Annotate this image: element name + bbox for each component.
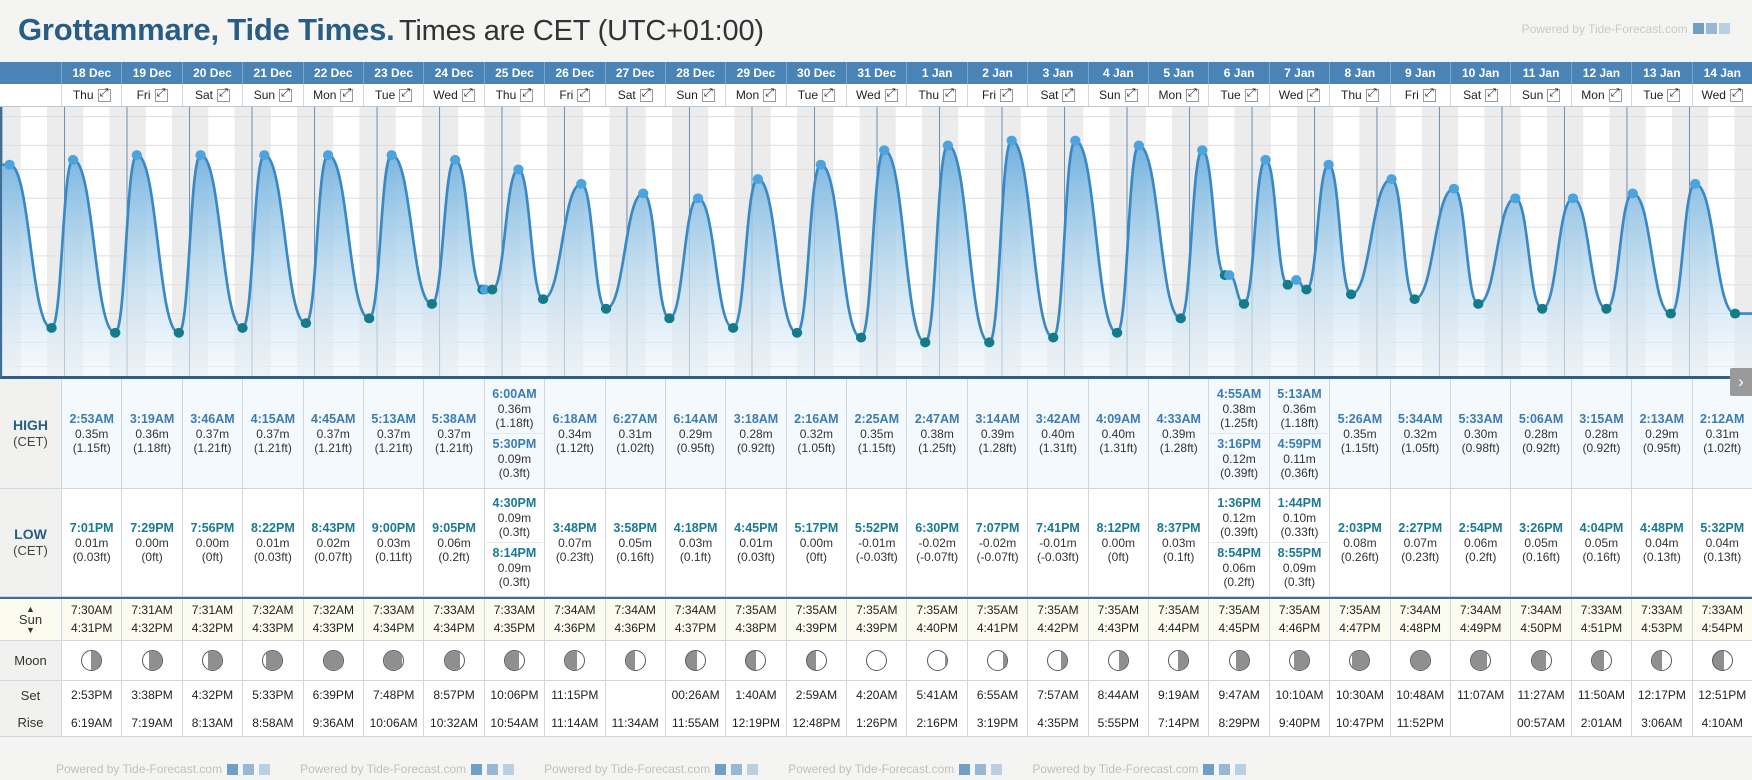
footer-powered-by-text: Powered by Tide-Forecast.com	[300, 762, 466, 776]
low-tide-height-m: 0.08m	[1331, 536, 1388, 550]
moon-rise-time: 10:54AM	[484, 709, 544, 736]
moon-phase-icon	[1591, 650, 1612, 671]
moon-shadow	[1003, 651, 1007, 670]
high-tide-height-ft: (1.18ft)	[1271, 416, 1328, 430]
sun-cell: 7:33AM4:53PM	[1631, 599, 1691, 640]
moon-phase-cell	[906, 641, 966, 680]
moon-rise-time: 1:26PM	[846, 709, 906, 736]
sunset-time: 4:37PM	[675, 620, 716, 637]
high-tide-time: 2:12AM	[1694, 412, 1751, 427]
date-header-cell: 21 Dec	[242, 62, 302, 84]
high-tide-event: 3:14AM0.39m(1.28ft)	[969, 411, 1026, 456]
low-tide-time: 8:43PM	[305, 521, 362, 536]
weekday-header-cell: Fri	[1390, 84, 1450, 106]
moon-rise-time: 4:35PM	[1027, 709, 1087, 736]
high-tide-marker	[1291, 275, 1301, 285]
expand-icon[interactable]	[1245, 89, 1258, 102]
weekday-label: Wed	[1279, 88, 1303, 102]
high-tide-height-ft: (1.31ft)	[1090, 441, 1147, 455]
expand-icon[interactable]	[1485, 89, 1498, 102]
high-tide-time: 5:06AM	[1512, 412, 1569, 427]
high-tide-cell: 6:14AM0.29m(0.95ft)	[665, 379, 725, 488]
weekday-header-cell: Mon	[725, 84, 785, 106]
date-header-cell: 6 Jan	[1208, 62, 1268, 84]
high-tide-marker	[943, 141, 953, 151]
sunset-time: 4:34PM	[373, 620, 414, 637]
weekday-label: Tue	[375, 88, 395, 102]
expand-icon[interactable]	[217, 89, 230, 102]
low-tide-marker	[728, 323, 738, 333]
high-tide-height-ft: (1.21ft)	[425, 441, 482, 455]
date-header-corner	[0, 62, 61, 84]
high-tide-height-ft: (1.21ft)	[365, 441, 422, 455]
high-tide-height-ft: (0.92ft)	[1573, 441, 1630, 455]
moon-rise-time: 7:19AM	[121, 709, 181, 736]
sun-cell: 7:33AM4:34PM	[423, 599, 483, 640]
low-tide-time: 7:56PM	[184, 521, 241, 536]
low-tide-event: 8:54PM0.06m(0.2ft)	[1210, 542, 1267, 590]
high-tide-marker	[68, 155, 78, 165]
low-tide-event: 5:17PM0.00m(0ft)	[788, 520, 845, 565]
moon-phase-cell	[1027, 641, 1087, 680]
sun-cell: 7:35AM4:47PM	[1329, 599, 1389, 640]
low-tide-cell: 7:01PM0.01m(0.03ft)	[61, 489, 121, 596]
low-tide-marker	[1239, 299, 1249, 309]
weekday-header-cell: Sat	[182, 84, 242, 106]
weekday-label: Thu	[496, 88, 517, 102]
expand-icon[interactable]	[822, 89, 835, 102]
high-tide-event: 6:14AM0.29m(0.95ft)	[667, 411, 724, 456]
high-tide-height-ft: (1.02ft)	[1694, 441, 1751, 455]
moon-shadow	[1592, 651, 1604, 670]
low-tide-height-m: 0.00m	[788, 536, 845, 550]
moon-phase-cell	[1269, 641, 1329, 680]
expand-icon[interactable]	[1366, 89, 1379, 102]
low-tide-time: 2:54PM	[1452, 521, 1509, 536]
low-tide-height-ft: (0ft)	[788, 550, 845, 564]
moon-shadow	[384, 651, 401, 670]
high-tide-time: 5:34AM	[1392, 412, 1449, 427]
date-header-cell: 8 Jan	[1329, 62, 1389, 84]
low-tide-height-m: 0.01m	[727, 536, 784, 550]
high-tide-marker	[450, 155, 460, 165]
sun-cell: 7:34AM4:50PM	[1510, 599, 1570, 640]
low-tide-time: 8:37PM	[1150, 521, 1207, 536]
high-tide-time: 4:33AM	[1150, 412, 1207, 427]
low-tide-height-m: 0.01m	[63, 536, 120, 550]
low-tide-height-m: 0.04m	[1694, 536, 1751, 550]
high-tide-event: 3:15AM0.28m(0.92ft)	[1573, 411, 1630, 456]
low-tide-event: 7:01PM0.01m(0.03ft)	[63, 520, 120, 565]
sun-cell: 7:31AM4:32PM	[121, 599, 181, 640]
weekday-header-cell: Sun	[1510, 84, 1570, 106]
expand-icon[interactable]	[763, 89, 776, 102]
high-tide-height-ft: (1.25ft)	[1210, 416, 1267, 430]
high-tide-event: 5:33AM0.30m(0.98ft)	[1452, 411, 1509, 456]
footer-powered-by-group: Powered by Tide-Forecast.com	[270, 762, 514, 776]
moon-shadow	[208, 651, 222, 670]
moon-phase-columns	[61, 641, 1752, 680]
low-tide-time: 9:05PM	[425, 521, 482, 536]
moon-rise-time: 3:19PM	[967, 709, 1027, 736]
weekday-header-cell: Tue	[1208, 84, 1268, 106]
sunrise-time: 7:33AM	[373, 602, 414, 619]
moon-rise-time: 6:19AM	[61, 709, 121, 736]
moon-set-columns: 2:53PM3:38PM4:32PM5:33PM6:39PM7:48PM8:57…	[61, 681, 1752, 709]
sunset-time: 4:47PM	[1339, 620, 1380, 637]
weekday-header-cell: Sat	[1450, 84, 1510, 106]
expand-icon[interactable]	[943, 89, 956, 102]
moon-shadow	[945, 651, 947, 670]
weekday-label: Sun	[1522, 88, 1543, 102]
moon-phase-icon	[625, 650, 646, 671]
expand-icon[interactable]	[1609, 89, 1622, 102]
low-tide-height-m: 0.07m	[1392, 536, 1449, 550]
sunset-time: 4:33PM	[252, 620, 293, 637]
sunset-time: 4:32PM	[192, 620, 233, 637]
high-tide-marker	[1386, 174, 1396, 184]
expand-icon[interactable]	[462, 89, 475, 102]
high-tide-height-m: 0.40m	[1029, 427, 1086, 441]
sunrise-time: 7:31AM	[192, 602, 233, 619]
high-tide-height-ft: (1.05ft)	[788, 441, 845, 455]
low-tide-event: 9:00PM0.03m(0.11ft)	[365, 520, 422, 565]
weekday-header-cell: Sun	[1088, 84, 1148, 106]
high-tide-cell: 4:45AM0.37m(1.21ft)	[303, 379, 363, 488]
high-tide-event: 2:12AM0.31m(1.02ft)	[1694, 411, 1751, 456]
expand-icon[interactable]	[155, 89, 168, 102]
expand-icon[interactable]	[640, 89, 653, 102]
low-tide-height-m: 0.07m	[546, 536, 603, 550]
moon-rise-time: 2:16PM	[906, 709, 966, 736]
weekday-label: Mon	[1159, 88, 1182, 102]
moon-set-time: 10:48AM	[1390, 681, 1450, 709]
expand-icon[interactable]	[399, 89, 412, 102]
sunrise-time: 7:35AM	[735, 602, 776, 619]
high-tide-height-m: 0.35m	[848, 427, 905, 441]
date-header-cell: 9 Jan	[1390, 62, 1450, 84]
weekday-label: Wed	[1702, 88, 1726, 102]
low-tide-event: 6:30PM-0.02m(-0.07ft)	[908, 520, 965, 565]
high-tide-time: 6:00AM	[486, 387, 543, 402]
high-tide-height-m: 0.11m	[1271, 452, 1328, 466]
low-tide-event: 4:30PM0.09m(0.3ft)	[486, 495, 543, 540]
high-tide-height-m: 0.37m	[244, 427, 301, 441]
low-tide-marker	[1048, 333, 1058, 343]
low-tide-label-text: LOW	[14, 526, 47, 544]
high-tide-event: 5:30PM0.09m(0.3ft)	[486, 433, 543, 481]
sunrise-time: 7:35AM	[856, 602, 897, 619]
moon-phase-icon	[806, 650, 827, 671]
high-tide-label: HIGH (CET)	[0, 379, 61, 488]
low-tide-height-m: 0.05m	[607, 536, 664, 550]
moon-phase-icon	[202, 650, 223, 671]
moon-shadow	[324, 651, 343, 670]
date-header-cell: 26 Dec	[544, 62, 604, 84]
date-header-cell: 18 Dec	[61, 62, 121, 84]
footer-powered-by-group: Powered by Tide-Forecast.com	[514, 762, 758, 776]
date-header-cell: 28 Dec	[665, 62, 725, 84]
expand-icon[interactable]	[885, 89, 898, 102]
weekday-header-cell: Wed	[846, 84, 906, 106]
sunrise-time: 7:34AM	[675, 602, 716, 619]
low-tide-height-m: 0.02m	[305, 536, 362, 550]
high-tide-height-m: 0.31m	[1694, 427, 1751, 441]
high-tide-height-m: 0.30m	[1452, 427, 1509, 441]
low-tide-height-ft: (0.16ft)	[1512, 550, 1569, 564]
expand-icon[interactable]	[577, 89, 590, 102]
high-tide-height-m: 0.35m	[1331, 427, 1388, 441]
low-tide-height-ft: (0.33ft)	[1271, 525, 1328, 539]
high-tide-row: HIGH (CET) 2:53AM0.35m(1.15ft)3:19AM0.36…	[0, 379, 1752, 489]
weekday-header-cell: Sat	[1027, 84, 1087, 106]
moon-phase-row: Moon	[0, 641, 1752, 681]
moon-set-label: Set	[0, 681, 61, 709]
high-tide-cell: 6:27AM0.31m(1.02ft)	[605, 379, 665, 488]
high-tide-height-ft: (1.15ft)	[63, 441, 120, 455]
low-tide-marker	[664, 313, 674, 323]
low-tide-cell: 4:30PM0.09m(0.3ft)8:14PM0.09m(0.3ft)	[484, 489, 544, 596]
low-tide-time: 3:26PM	[1512, 521, 1569, 536]
low-tide-marker	[1666, 309, 1676, 319]
date-header-cell: 14 Jan	[1692, 62, 1752, 84]
high-tide-time: 3:16PM	[1210, 437, 1267, 452]
moon-phase-cell	[121, 641, 181, 680]
low-tide-time: 8:54PM	[1210, 546, 1267, 561]
date-header-cell: 11 Jan	[1510, 62, 1570, 84]
moon-set-time	[605, 681, 665, 709]
high-tide-height-ft: (0.95ft)	[1633, 441, 1690, 455]
moon-phase-cell	[967, 641, 1027, 680]
high-tide-height-m: 0.34m	[546, 427, 603, 441]
expand-icon[interactable]	[1062, 89, 1075, 102]
expand-icon[interactable]	[340, 89, 353, 102]
weekday-label: Thu	[73, 88, 94, 102]
high-tide-height-ft: (0.3ft)	[486, 466, 543, 480]
moon-phase-icon	[383, 650, 404, 671]
low-tide-height-m: 0.03m	[667, 536, 724, 550]
moon-set-time: 6:39PM	[303, 681, 363, 709]
low-tide-cell: 4:45PM0.01m(0.03ft)	[725, 489, 785, 596]
weekday-header-cell: Wed	[1692, 84, 1752, 106]
high-tide-marker	[753, 174, 763, 184]
low-tide-event: 5:52PM-0.01m(-0.03ft)	[848, 520, 905, 565]
expand-icon[interactable]	[1667, 89, 1680, 102]
sunrise-time: 7:32AM	[252, 602, 293, 619]
sunset-time: 4:45PM	[1218, 620, 1259, 637]
low-tide-event: 8:22PM0.01m(0.03ft)	[244, 520, 301, 565]
date-header-cell: 31 Dec	[846, 62, 906, 84]
moon-rise-time: 5:55PM	[1088, 709, 1148, 736]
sunrise-time: 7:34AM	[615, 602, 656, 619]
moon-rise-time: 3:06AM	[1631, 709, 1691, 736]
low-tide-height-ft: (0.07ft)	[305, 550, 362, 564]
moon-rise-label: Rise	[0, 709, 61, 736]
moon-set-time: 10:06PM	[484, 681, 544, 709]
expand-icon[interactable]	[1125, 89, 1138, 102]
footer-logo-square-1	[227, 764, 238, 775]
low-tide-height-ft: (0.03ft)	[63, 550, 120, 564]
next-arrow-glyph: ›	[1738, 372, 1744, 392]
moon-set-time: 4:20AM	[846, 681, 906, 709]
expand-icon[interactable]	[1423, 89, 1436, 102]
high-tide-event: 4:59PM0.11m(0.36ft)	[1271, 433, 1328, 481]
sunset-time: 4:42PM	[1037, 620, 1078, 637]
weekday-label: Tue	[1643, 88, 1663, 102]
sunrise-time: 7:33AM	[433, 602, 474, 619]
low-tide-height-ft: (0.3ft)	[1271, 575, 1328, 589]
next-page-arrow-icon[interactable]: ›	[1730, 368, 1752, 396]
low-tide-marker	[1730, 309, 1740, 319]
high-tide-marker	[4, 160, 14, 170]
moon-phase-cell	[846, 641, 906, 680]
moon-rise-time: 8:13AM	[182, 709, 242, 736]
expand-icon[interactable]	[702, 89, 715, 102]
low-tide-time: 3:48PM	[546, 521, 603, 536]
high-tide-height-m: 0.37m	[425, 427, 482, 441]
powered-by-text: Powered by Tide-Forecast.com	[1522, 22, 1688, 36]
expand-icon[interactable]	[279, 89, 292, 102]
sunset-time: 4:36PM	[554, 620, 595, 637]
weekday-label: Wed	[856, 88, 880, 102]
expand-icon[interactable]	[1000, 89, 1013, 102]
high-tide-marker	[1260, 155, 1270, 165]
low-tide-cell: 3:26PM0.05m(0.16ft)	[1510, 489, 1570, 596]
footer-logo-square-2	[487, 764, 498, 775]
low-tide-height-m: 0.09m	[1271, 561, 1328, 575]
low-tide-height-m: 0.00m	[1090, 536, 1147, 550]
low-tide-height-ft: (0ft)	[123, 550, 180, 564]
weekday-label: Tue	[1221, 88, 1241, 102]
high-tide-marker	[513, 164, 523, 174]
moon-phase-icon	[564, 650, 585, 671]
high-tide-event: 4:15AM0.37m(1.21ft)	[244, 411, 301, 456]
sunrise-time: 7:35AM	[916, 602, 957, 619]
moon-phase-icon	[1410, 650, 1431, 671]
moon-phase-icon	[987, 650, 1008, 671]
low-tide-marker	[856, 333, 866, 343]
date-header-cell: 1 Jan	[906, 62, 966, 84]
moon-phase-cell	[363, 641, 423, 680]
footer-logo-square-3	[747, 764, 758, 775]
weekday-header-cell: Wed	[423, 84, 483, 106]
low-tide-event: 4:48PM0.04m(0.13ft)	[1633, 520, 1690, 565]
moon-set-time: 5:41AM	[906, 681, 966, 709]
sunrise-time: 7:35AM	[1158, 602, 1199, 619]
footer-logo-square-2	[731, 764, 742, 775]
moon-set-time: 8:44AM	[1088, 681, 1148, 709]
expand-icon[interactable]	[1730, 89, 1743, 102]
moon-rise-time: 10:06AM	[363, 709, 423, 736]
high-tide-event: 5:26AM0.35m(1.15ft)	[1331, 411, 1388, 456]
moon-phase-cell	[1148, 641, 1208, 680]
sun-cell: 7:33AM4:51PM	[1571, 599, 1631, 640]
high-tide-cell: 5:33AM0.30m(0.98ft)	[1450, 379, 1510, 488]
low-tide-height-m: 0.10m	[1271, 511, 1328, 525]
sunrise-time: 7:33AM	[494, 602, 535, 619]
sunset-time: 4:32PM	[131, 620, 172, 637]
low-tide-event: 5:32PM0.04m(0.13ft)	[1694, 520, 1751, 565]
moon-phase-icon	[927, 650, 948, 671]
high-tide-height-m: 0.36m	[486, 402, 543, 416]
low-tide-height-ft: (0ft)	[1090, 550, 1147, 564]
high-tide-height-m: 0.29m	[667, 427, 724, 441]
sunrise-time: 7:34AM	[1520, 602, 1561, 619]
high-tide-marker	[1449, 184, 1459, 194]
low-tide-height-ft: (0.13ft)	[1694, 550, 1751, 564]
low-tide-marker	[237, 323, 247, 333]
moon-phase-icon	[444, 650, 465, 671]
footer-logo-square-1	[1203, 764, 1214, 775]
low-tide-height-m: 0.06m	[425, 536, 482, 550]
moon-phase-cell	[1329, 641, 1389, 680]
moon-label: Moon	[0, 641, 61, 680]
expand-icon[interactable]	[98, 89, 111, 102]
high-tide-height-m: 0.37m	[305, 427, 362, 441]
logo-square-2	[1706, 23, 1717, 34]
high-tide-event: 2:47AM0.38m(1.25ft)	[908, 411, 965, 456]
date-header-cell: 10 Jan	[1450, 62, 1510, 84]
high-tide-label-text: HIGH	[13, 417, 48, 435]
moon-rise-row: Rise 6:19AM7:19AM8:13AM8:58AM9:36AM10:06…	[0, 709, 1752, 737]
expand-icon[interactable]	[1186, 89, 1199, 102]
high-tide-height-ft: (1.21ft)	[244, 441, 301, 455]
sunset-time: 4:39PM	[796, 620, 837, 637]
high-tide-marker	[1224, 270, 1234, 280]
expand-icon[interactable]	[520, 89, 533, 102]
low-tide-cell: 7:56PM0.00m(0ft)	[182, 489, 242, 596]
moon-shadow	[565, 651, 577, 670]
sunrise-time: 7:33AM	[1581, 602, 1622, 619]
sunrise-time: 7:34AM	[1400, 602, 1441, 619]
sunset-time: 4:48PM	[1400, 620, 1441, 637]
expand-icon[interactable]	[1307, 89, 1320, 102]
weekday-label: Fri	[137, 88, 151, 102]
low-tide-marker	[174, 328, 184, 338]
low-tide-cell: 8:37PM0.03m(0.1ft)	[1148, 489, 1208, 596]
high-tide-time: 5:13AM	[1271, 387, 1328, 402]
sunset-time: 4:51PM	[1581, 620, 1622, 637]
footer-logo-square-1	[715, 764, 726, 775]
low-tide-time: 5:52PM	[848, 521, 905, 536]
sunrise-time: 7:35AM	[1218, 602, 1259, 619]
sunset-time: 4:34PM	[433, 620, 474, 637]
weekday-label: Mon	[313, 88, 336, 102]
high-tide-height-m: 0.38m	[908, 427, 965, 441]
moon-rise-time: 00:57AM	[1510, 709, 1570, 736]
moon-rise-time: 11:55AM	[665, 709, 725, 736]
date-header-cell: 19 Dec	[121, 62, 181, 84]
expand-icon[interactable]	[1547, 89, 1560, 102]
low-tide-cell: 8:22PM0.01m(0.03ft)	[242, 489, 302, 596]
weekday-label: Sun	[254, 88, 275, 102]
moon-shadow	[149, 651, 161, 670]
date-header-cell: 30 Dec	[786, 62, 846, 84]
moon-set-time: 9:19AM	[1148, 681, 1208, 709]
low-tide-time: 4:18PM	[667, 521, 724, 536]
low-tide-height-ft: (0ft)	[184, 550, 241, 564]
high-tide-cell: 3:15AM0.28m(0.92ft)	[1571, 379, 1631, 488]
low-tide-event: 4:45PM0.01m(0.03ft)	[727, 520, 784, 565]
footer-powered-by-group: Powered by Tide-Forecast.com	[1002, 762, 1246, 776]
date-header-row: 18 Dec19 Dec20 Dec21 Dec22 Dec23 Dec24 D…	[0, 62, 1752, 84]
low-tide-time: 8:14PM	[486, 546, 543, 561]
low-tide-marker	[1473, 299, 1483, 309]
sunrise-time: 7:35AM	[1279, 602, 1320, 619]
footer-powered-by: Powered by Tide-Forecast.comPowered by T…	[0, 758, 1752, 780]
low-tide-event: 2:54PM0.06m(0.2ft)	[1452, 520, 1509, 565]
footer-logo-square-1	[471, 764, 482, 775]
